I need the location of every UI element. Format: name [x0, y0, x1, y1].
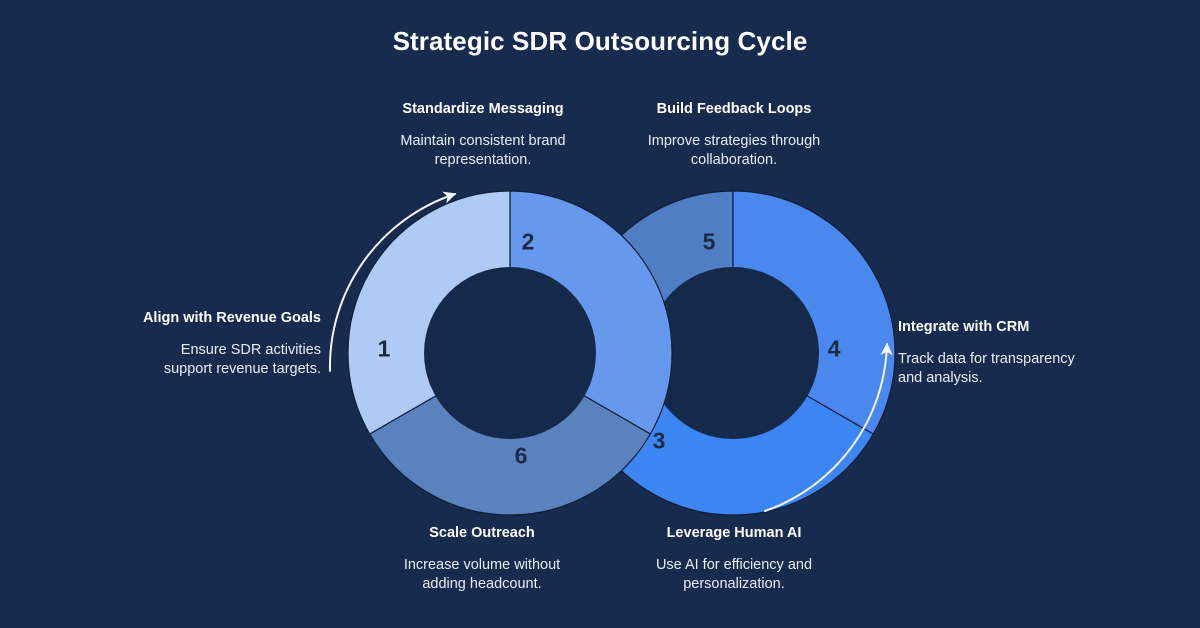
callout-scale-outreach[interactable]: Scale Outreach Increase volume without a… [392, 524, 572, 595]
callout-desc-6: Increase volume without adding headcount… [392, 556, 572, 595]
callout-title-1: Align with Revenue Goals [133, 309, 321, 328]
callout-align-with-revenue-goals[interactable]: Align with Revenue Goals Ensure SDR acti… [133, 309, 321, 380]
callout-title-3: Leverage Human AI [638, 524, 830, 543]
callout-build-feedback-loops[interactable]: Build Feedback Loops Improve strategies … [628, 100, 840, 171]
callout-title-2: Standardize Messaging [380, 100, 586, 119]
callout-integrate-with-crm[interactable]: Integrate with CRM Track data for transp… [898, 318, 1088, 389]
callout-desc-4: Track data for transparency and analysis… [898, 350, 1088, 389]
infographic-canvas: Strategic SDR Outsourcing Cycle [0, 0, 1200, 628]
callout-desc-5: Improve strategies through collaboration… [628, 132, 840, 171]
callout-leverage-human-ai[interactable]: Leverage Human AI Use AI for efficiency … [638, 524, 830, 595]
callout-title-6: Scale Outreach [392, 524, 572, 543]
callout-title-5: Build Feedback Loops [628, 100, 840, 119]
callout-title-4: Integrate with CRM [898, 318, 1088, 337]
left-ring-hole [424, 267, 596, 439]
callout-desc-3: Use AI for efficiency and personalizatio… [638, 556, 830, 595]
callout-desc-1: Ensure SDR activities support revenue ta… [133, 341, 321, 380]
callout-standardize-messaging[interactable]: Standardize Messaging Maintain consisten… [380, 100, 586, 171]
left-ring [348, 191, 672, 515]
right-ring-hole [647, 267, 819, 439]
callout-desc-2: Maintain consistent brand representation… [380, 132, 586, 171]
